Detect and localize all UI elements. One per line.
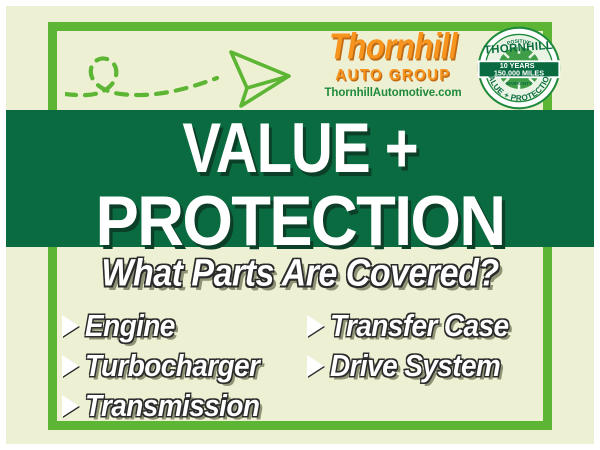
svg-text:WARRANTY: WARRANTY bbox=[506, 81, 532, 86]
thornhill-logo: Thornhill AUTO GROUP ThornhillAutomotive… bbox=[319, 28, 467, 100]
covered-parts-list: Engine Turbocharger Transmission Transfe… bbox=[62, 308, 542, 428]
logo-subtitle: AUTO GROUP bbox=[319, 68, 467, 84]
part-label: Engine bbox=[85, 308, 175, 343]
part-label: Drive System bbox=[330, 348, 500, 383]
triangle-right-icon bbox=[307, 315, 324, 337]
headline-line-2: PROTECTION bbox=[0, 189, 600, 256]
part-label: Transmission bbox=[85, 388, 259, 423]
question-heading: What Parts Are Covered? bbox=[0, 252, 600, 296]
dashed-flight-path-with-paper-plane-icon bbox=[65, 32, 305, 110]
list-item: Drive System bbox=[307, 348, 542, 384]
list-item: Turbocharger bbox=[62, 348, 297, 384]
covered-parts-right-column: Transfer Case Drive System bbox=[307, 308, 542, 428]
logo-website: ThornhillAutomotive.com bbox=[319, 88, 467, 100]
value-protection-ad: Thornhill AUTO GROUP ThornhillAutomotive… bbox=[0, 0, 600, 450]
triangle-right-icon bbox=[62, 395, 79, 417]
covered-parts-left-column: Engine Turbocharger Transmission bbox=[62, 308, 297, 428]
triangle-right-icon bbox=[62, 355, 79, 377]
seal-term-miles: 150,000 MILES bbox=[494, 69, 544, 78]
headline-line-1: VALUE + bbox=[0, 116, 600, 183]
ad-headline: VALUE + PROTECTION bbox=[0, 110, 600, 247]
logo-wordmark: Thornhill bbox=[319, 28, 467, 65]
part-label: Turbocharger bbox=[85, 348, 259, 383]
seal-small-bottom-label: WARRANTY bbox=[506, 81, 532, 86]
part-label: Transfer Case bbox=[330, 308, 508, 343]
ad-header: Thornhill AUTO GROUP ThornhillAutomotive… bbox=[57, 26, 543, 110]
triangle-right-icon bbox=[307, 355, 324, 377]
list-item: Engine bbox=[62, 308, 297, 344]
list-item: Transfer Case bbox=[307, 308, 542, 344]
triangle-right-icon bbox=[62, 315, 79, 337]
list-item: Transmission bbox=[62, 388, 297, 424]
warranty-seal-badge: POSITIVE THORNHILL 10 YEARS 150,000 MILE… bbox=[477, 26, 561, 110]
